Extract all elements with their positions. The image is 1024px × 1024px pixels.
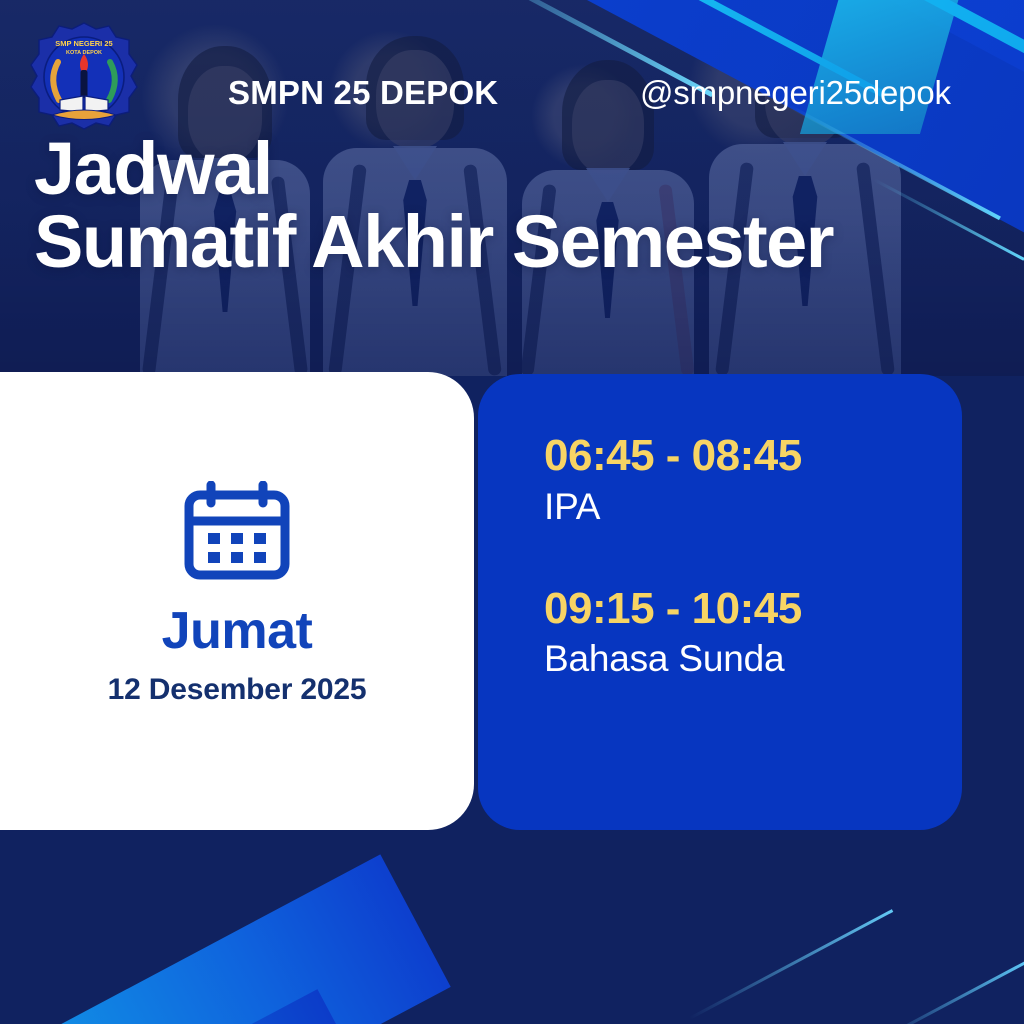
day-date: 12 Desember 2025 xyxy=(108,673,367,707)
day-card: Jumat 12 Desember 2025 xyxy=(0,372,474,830)
title-line-1: Jadwal xyxy=(34,132,833,205)
decor-diagonal-cyan-band xyxy=(0,854,451,1024)
schedule-slot: 06:45 - 08:45 IPA xyxy=(544,432,962,529)
poster-root: SMP NEGERI 25 KOTA DEPOK Jadwal Sumatif … xyxy=(0,0,1024,1024)
slot-time: 09:15 - 10:45 xyxy=(544,585,962,633)
footer-social-handle: @smpnegeri25depok xyxy=(640,74,951,112)
decor-cyan-hairline xyxy=(883,962,1024,1024)
logo-text-top: SMP NEGERI 25 xyxy=(55,39,112,48)
schedule-slot: 09:15 - 10:45 Bahasa Sunda xyxy=(544,585,962,682)
footer-school-name: SMPN 25 DEPOK xyxy=(228,74,498,112)
page-title: Jadwal Sumatif Akhir Semester xyxy=(34,132,833,279)
poster-footer xyxy=(0,830,1024,1024)
title-line-2: Sumatif Akhir Semester xyxy=(34,205,833,278)
slot-time: 06:45 - 08:45 xyxy=(544,432,962,480)
slot-subject: Bahasa Sunda xyxy=(544,636,962,681)
calendar-icon xyxy=(183,481,291,581)
slot-subject: IPA xyxy=(544,484,962,529)
school-logo: SMP NEGERI 25 KOTA DEPOK xyxy=(28,20,140,132)
day-name: Jumat xyxy=(162,605,313,657)
decor-cyan-hairline xyxy=(689,909,893,1020)
logo-torch-handle xyxy=(81,70,88,98)
schedule-card: 06:45 - 08:45 IPA 09:15 - 10:45 Bahasa S… xyxy=(478,374,962,830)
